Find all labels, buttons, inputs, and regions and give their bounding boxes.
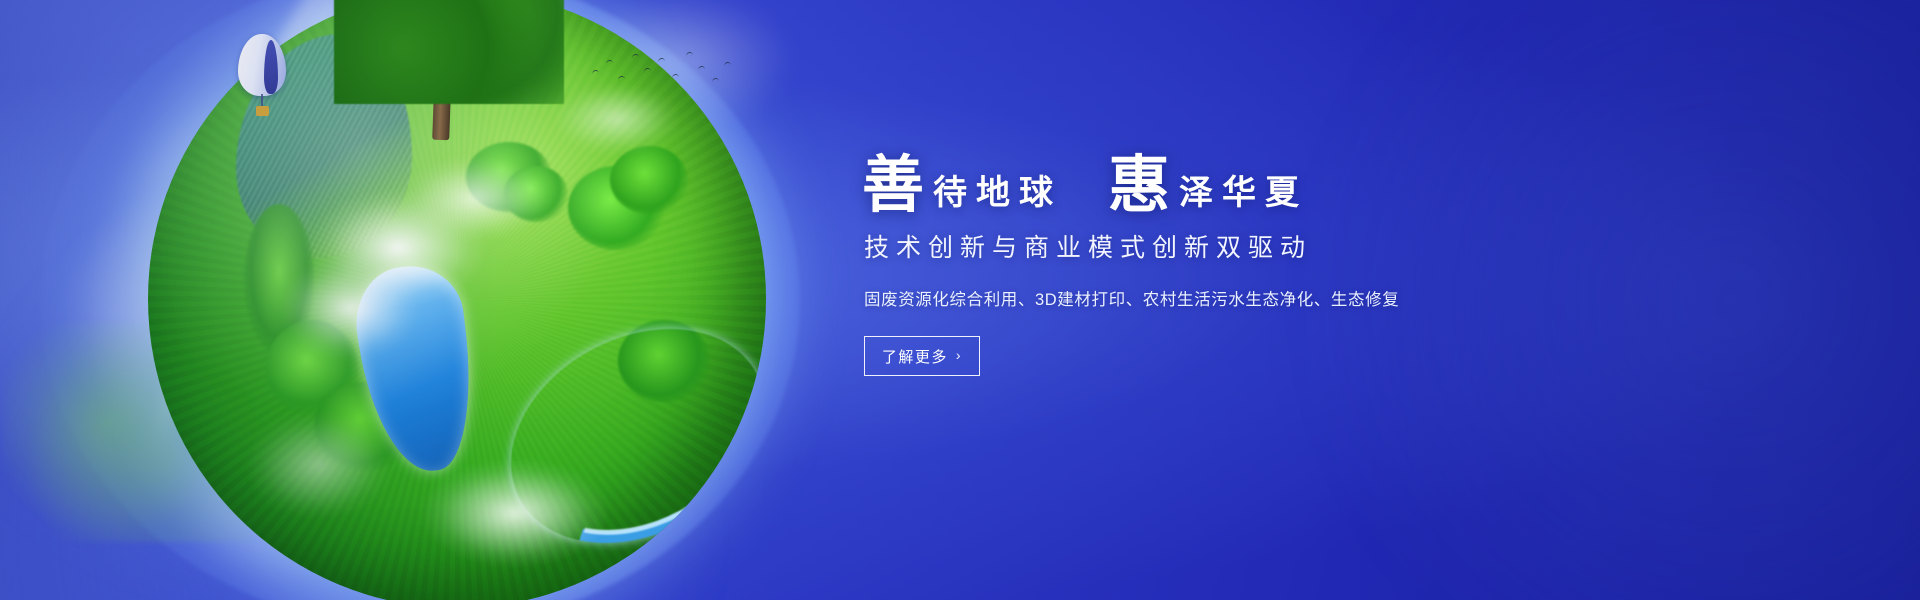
- learn-more-button[interactable]: 了解更多 ›: [864, 336, 980, 376]
- learn-more-label: 了解更多: [882, 346, 948, 367]
- headline-part2-large: 惠: [1108, 154, 1171, 216]
- hero-banner: 善 待地球 惠 泽华夏 技术创新与商业模式创新双驱动 固废资源化综合利用、3D建…: [0, 0, 1920, 600]
- headline-part1-large: 善: [862, 154, 925, 216]
- headline-part1-small: 待地球: [933, 176, 1062, 214]
- headline-part2-small: 泽华夏: [1179, 176, 1308, 214]
- banner-description: 固废资源化综合利用、3D建材打印、农村生活污水生态净化、生态修复: [864, 286, 1742, 310]
- banner-subtitle: 技术创新与商业模式创新双驱动: [864, 228, 1742, 264]
- chevron-right-icon: ›: [956, 347, 962, 363]
- banner-content: 善 待地球 惠 泽华夏 技术创新与商业模式创新双驱动 固废资源化综合利用、3D建…: [862, 128, 1742, 376]
- headline: 善 待地球 惠 泽华夏: [862, 128, 1742, 214]
